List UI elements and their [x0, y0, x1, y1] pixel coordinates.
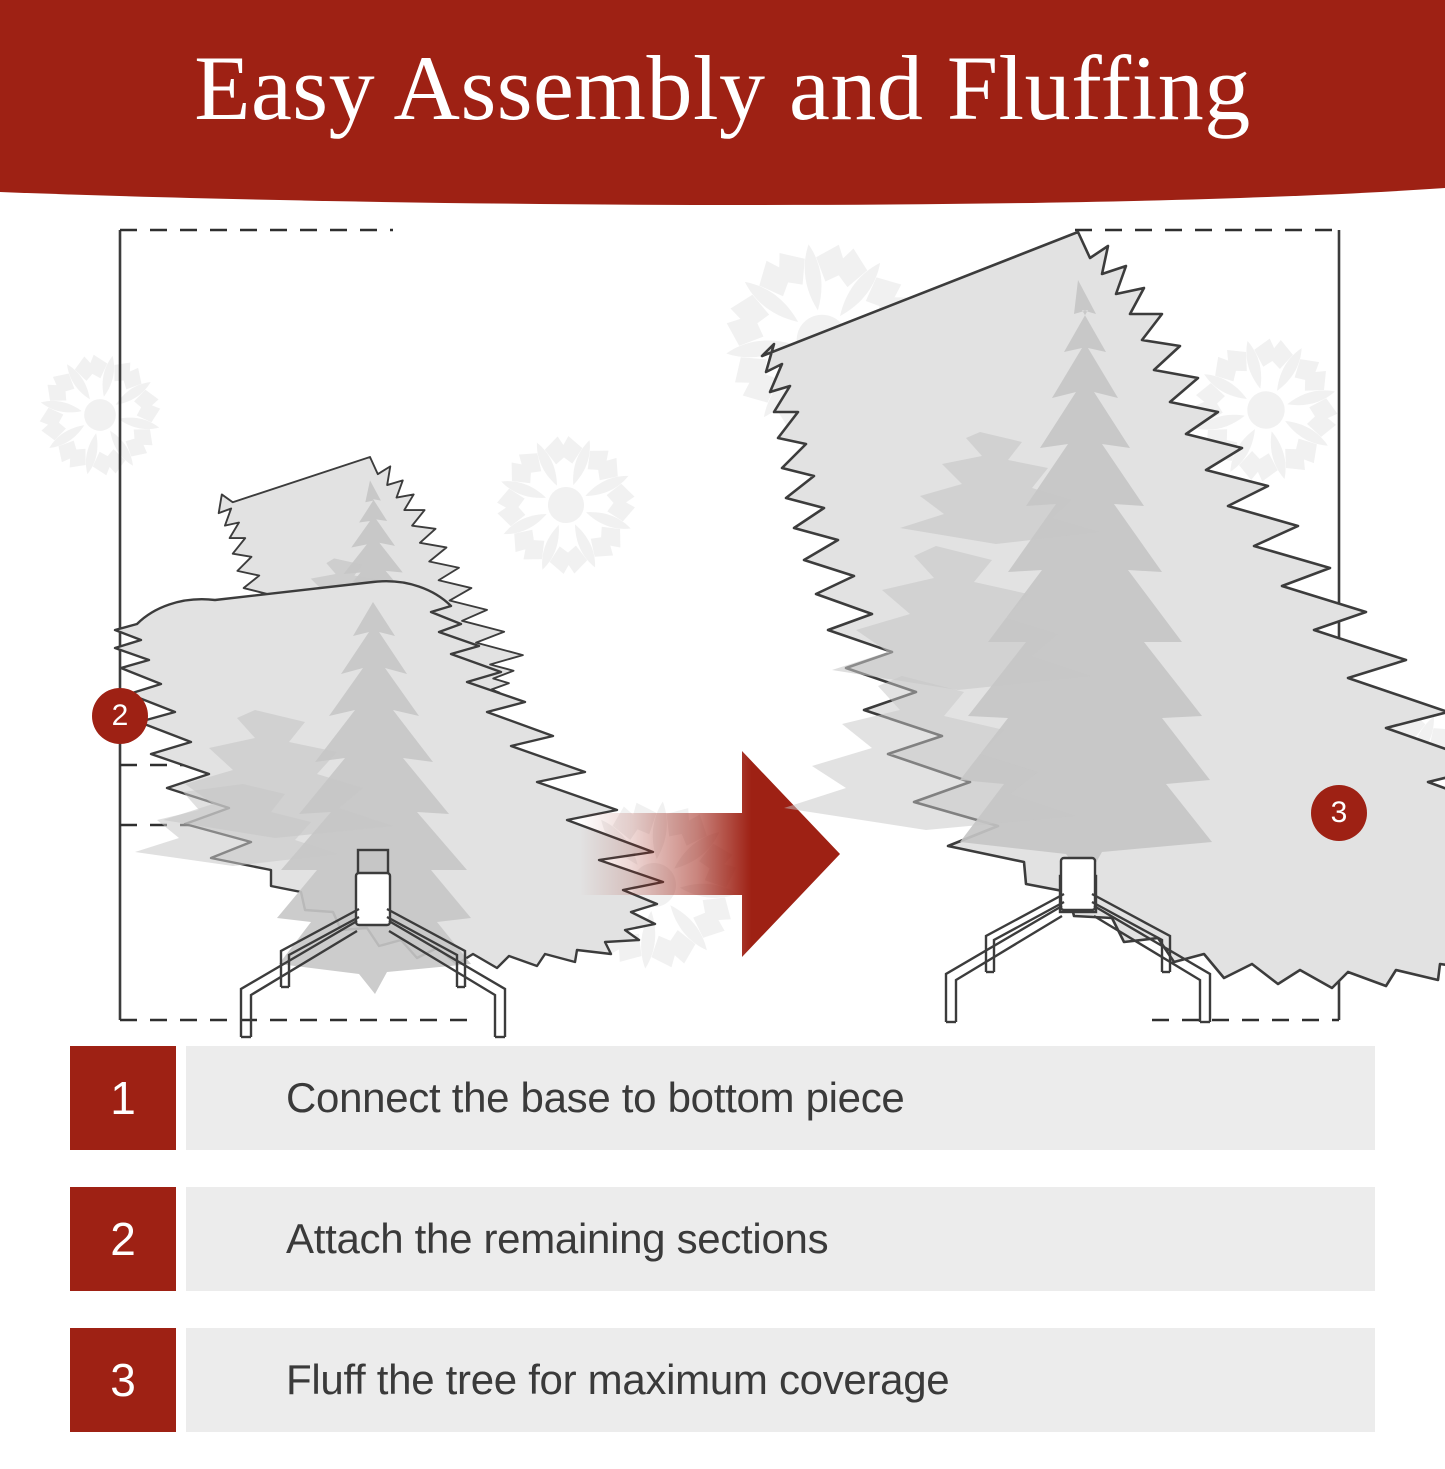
step-row: 3 Fluff the tree for maximum coverage: [0, 1328, 1445, 1432]
step-number-badge: 1: [70, 1046, 176, 1150]
step-label: Connect the base to bottom piece: [286, 1046, 904, 1150]
snowflake-icon: [478, 417, 655, 594]
step-row: 1 Connect the base to bottom piece: [0, 1046, 1445, 1150]
step-label: Fluff the tree for maximum coverage: [286, 1328, 949, 1432]
assembly-steps-list: 1 Connect the base to bottom piece 2 Att…: [0, 1046, 1445, 1469]
assembled-fluffed-tree: [762, 232, 1445, 1022]
page-title: Easy Assembly and Fluffing: [0, 36, 1445, 140]
step-number-badge: 3: [70, 1328, 176, 1432]
diagram-step-badge-2[interactable]: 2: [92, 688, 148, 744]
step-label: Attach the remaining sections: [286, 1187, 828, 1291]
step-number-badge: 2: [70, 1187, 176, 1291]
full-tree: [762, 232, 1445, 988]
assembly-diagram: 1 2 3: [0, 195, 1445, 1040]
step-row: 2 Attach the remaining sections: [0, 1187, 1445, 1291]
header-banner: Easy Assembly and Fluffing: [0, 0, 1445, 210]
snowflake-icon: [28, 343, 171, 486]
diagram-step-badge-3[interactable]: 3: [1311, 785, 1367, 841]
